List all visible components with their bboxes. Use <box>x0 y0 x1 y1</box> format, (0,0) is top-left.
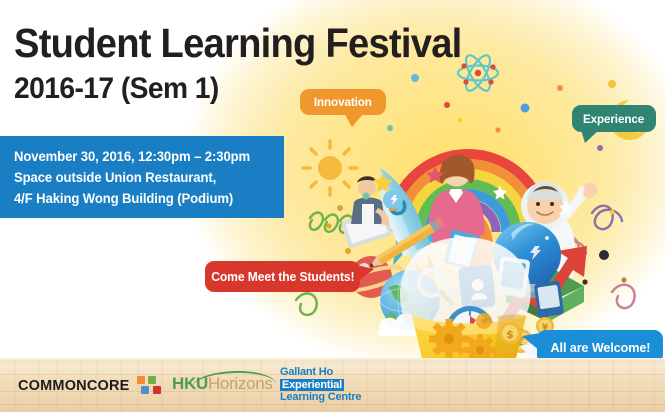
callout-tail-icon <box>344 113 364 127</box>
event-datetime: November 30, 2016, 12:30pm – 2:30pm <box>14 146 268 167</box>
gallant-line3: Learning Centre <box>280 391 361 404</box>
event-details-lines: November 30, 2016, 12:30pm – 2:30pm Spac… <box>14 146 268 209</box>
logo-gallant-ho-experiential-learning-centre: Gallant Ho Experiential Learning Centre <box>280 366 361 404</box>
callout-tail-icon <box>581 130 599 143</box>
callout-tail-icon <box>522 333 540 351</box>
hku-swoosh-icon <box>192 370 276 388</box>
logo-commoncore: COMMONCORE <box>18 376 164 395</box>
callout-come-meet-the-students: Come Meet the Students! <box>205 261 360 292</box>
commoncore-squares-icon <box>137 376 164 395</box>
callout-innovation-label: Innovation <box>314 95 372 109</box>
event-details-panel: November 30, 2016, 12:30pm – 2:30pm Spac… <box>0 136 284 218</box>
callout-experience: Experience <box>572 105 656 132</box>
gallant-line2: Experiential <box>280 379 344 392</box>
logo-bar: COMMONCORE HKU Horizons Gallant Ho Exper… <box>0 358 665 412</box>
callout-meet-label: Come Meet the Students! <box>211 270 354 284</box>
poster-canvas: € $ ¥ <box>0 0 665 412</box>
event-venue-line2: 4/F Haking Wong Building (Podium) <box>14 188 268 209</box>
event-venue-line1: Space outside Union Restaurant, <box>14 167 268 188</box>
callout-innovation: Innovation <box>300 89 386 115</box>
callout-experience-label: Experience <box>583 112 644 126</box>
page-title: Student Learning Festival <box>14 20 498 66</box>
callout-welcome-label: All are Welcome! <box>550 340 650 355</box>
gallant-line1: Gallant Ho <box>280 366 361 379</box>
logo-hku-horizons: HKU Horizons <box>172 374 273 394</box>
logo-commoncore-wordmark: COMMONCORE <box>18 378 130 394</box>
callout-tail-icon <box>356 265 374 283</box>
